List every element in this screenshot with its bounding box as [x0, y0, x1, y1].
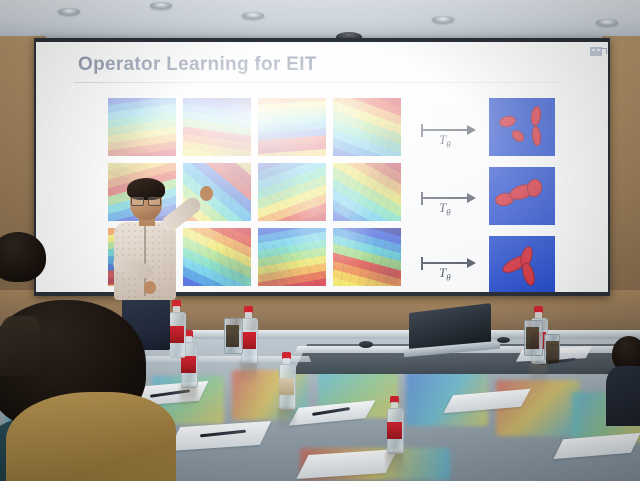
inclusion-blob: [530, 105, 543, 126]
operator-arrow: Tθ: [419, 102, 481, 160]
arrow-shaft-icon: [422, 197, 470, 199]
arrow-head-icon: [467, 125, 476, 135]
contour-plot: [258, 163, 326, 221]
inclusion-blob: [509, 128, 526, 144]
tea-cup[interactable]: [224, 318, 243, 354]
audience-shoulders: [6, 392, 176, 481]
bottle-label: [279, 378, 294, 395]
field-warp: [258, 163, 326, 221]
contour-plot: [333, 163, 401, 221]
bottle-reflection: [530, 362, 547, 384]
eit-reconstruction-panel: [489, 167, 555, 225]
operator-arrow: Tθ: [419, 235, 481, 292]
mouse-device[interactable]: [359, 341, 373, 348]
inclusion-blob: [520, 261, 537, 287]
arrow-head-icon: [467, 258, 476, 268]
eit-reconstruction-column: [489, 98, 555, 292]
contour-plot: [183, 98, 251, 156]
operator-label: Tθ: [439, 132, 451, 150]
field-warp: [183, 98, 251, 156]
bottle-label: [181, 356, 196, 373]
downlight-icon: [596, 19, 618, 26]
conference-room-photo: Operator Learning for EIT Tθ Tθ: [0, 0, 640, 481]
bottle-reflection: [386, 452, 403, 474]
glasses-icon: [131, 197, 161, 204]
arrow-head-icon: [467, 193, 476, 203]
field-warp: [108, 98, 176, 156]
tea-liquid: [526, 327, 539, 349]
presenter-raised-hand: [200, 186, 213, 201]
field-warp: [258, 228, 326, 286]
tea-cup[interactable]: [524, 320, 543, 356]
contour-plot: [258, 228, 326, 286]
operator-arrow-column: Tθ Tθ Tθ: [419, 102, 481, 292]
presenter-lower-hand: [144, 281, 156, 294]
contour-plot: [108, 98, 176, 156]
bottle-reflection: [278, 408, 295, 430]
bottle-reflection: [240, 362, 257, 384]
field-warp: [258, 98, 326, 156]
field-warp: [333, 98, 401, 156]
bottle-reflection: [180, 386, 197, 408]
audience-shoulders: [0, 316, 40, 376]
mouse-device[interactable]: [497, 337, 510, 343]
slide-title: Operator Learning for EIT: [78, 54, 317, 76]
bottle-label: [241, 332, 256, 349]
bottle-label: [387, 422, 402, 439]
tea-liquid: [546, 341, 559, 363]
contour-plot: [333, 228, 401, 286]
slide-corner-tick-icon: [601, 48, 607, 54]
field-warp: [183, 228, 251, 286]
downlight-icon: [150, 2, 172, 9]
contour-plot: [258, 98, 326, 156]
audience-shoulders: [606, 366, 640, 426]
eit-reconstruction-panel: [489, 236, 555, 292]
tea-liquid: [226, 325, 239, 347]
inclusion-blob: [531, 126, 542, 147]
downlight-icon: [242, 12, 264, 19]
operator-arrow: Tθ: [419, 170, 481, 228]
operator-label: Tθ: [439, 265, 451, 283]
title-underline: [74, 82, 564, 83]
table-reflection: [496, 380, 580, 436]
ceiling: [0, 0, 640, 40]
field-warp: [333, 228, 401, 286]
operator-label: Tθ: [439, 200, 451, 218]
field-warp: [333, 163, 401, 221]
contour-plot: [183, 228, 251, 286]
tea-cup[interactable]: [544, 334, 560, 360]
downlight-icon: [432, 16, 454, 23]
eit-reconstruction-panel: [489, 98, 555, 156]
contour-plot: [333, 98, 401, 156]
arrow-shaft-icon: [422, 129, 470, 131]
arrow-shaft-icon: [422, 262, 470, 264]
downlight-icon: [58, 8, 80, 15]
inclusion-blob: [498, 114, 517, 128]
